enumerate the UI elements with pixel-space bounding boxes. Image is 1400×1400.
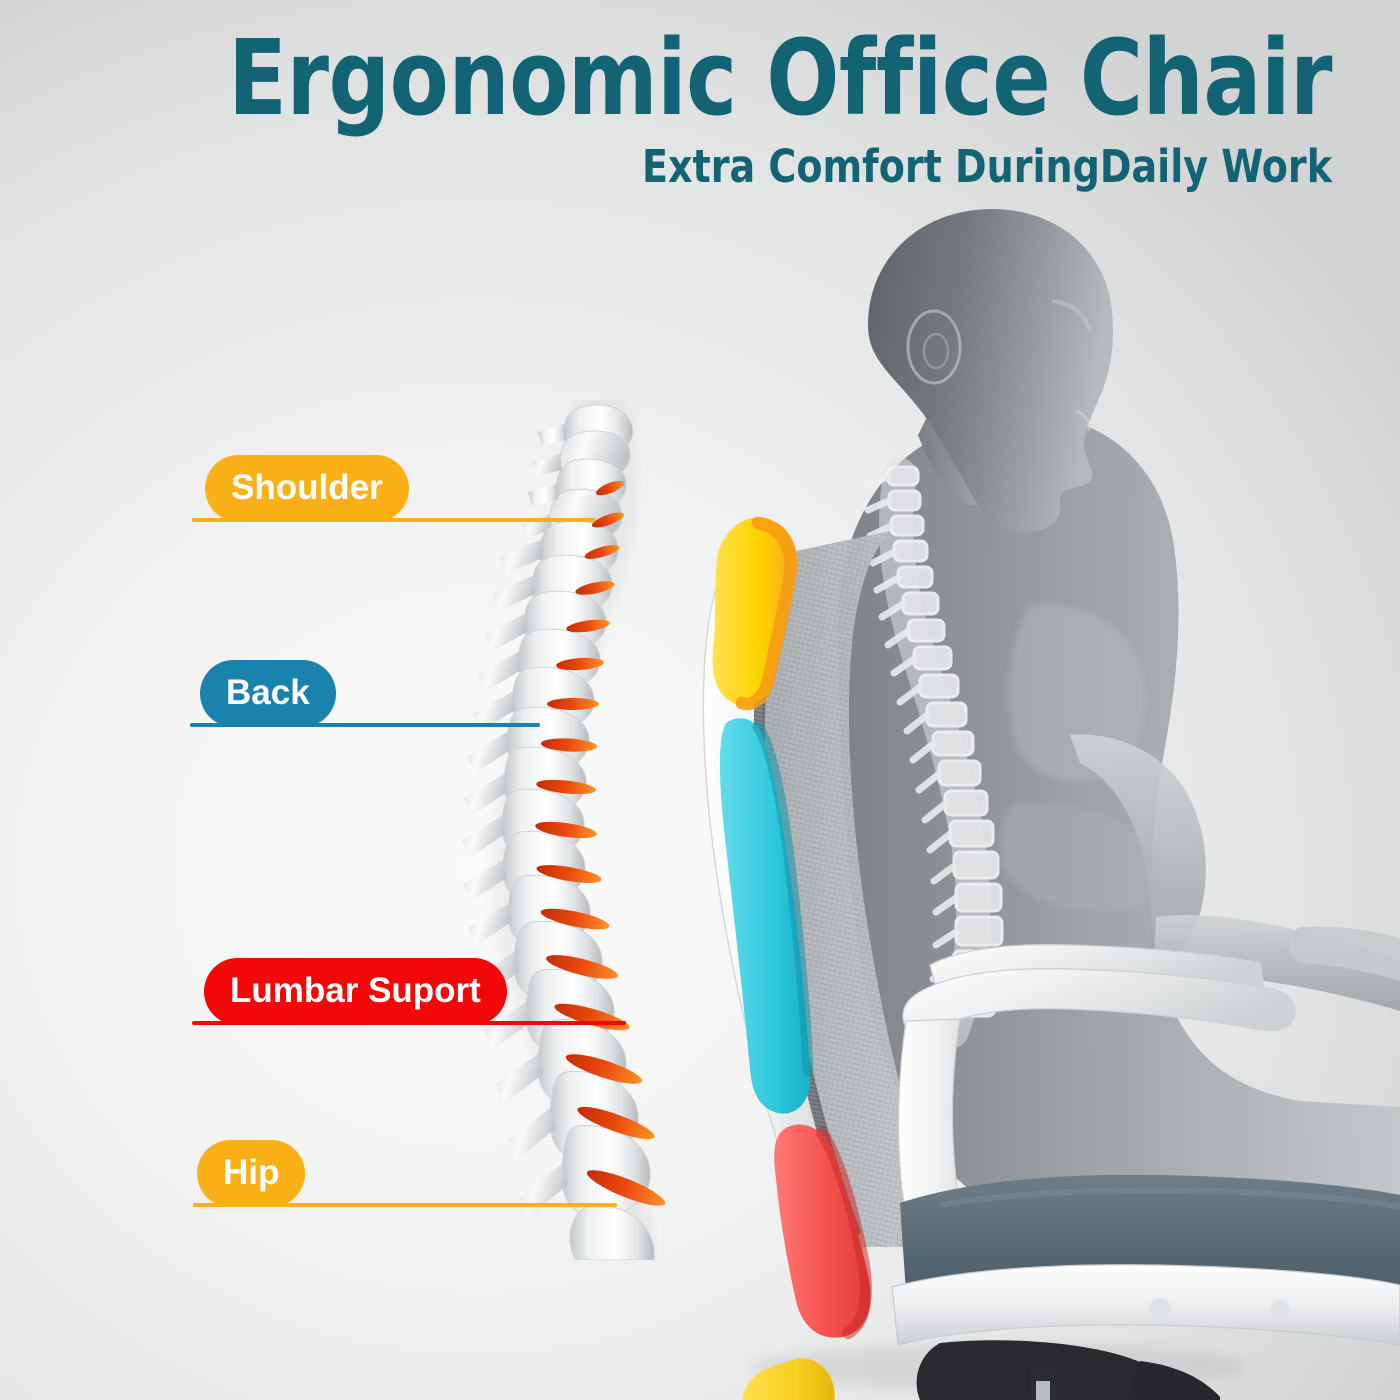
page-subtitle: Extra Comfort DuringDaily Work xyxy=(80,130,1332,189)
seat-pan xyxy=(892,1265,1400,1345)
spine-illustration xyxy=(430,400,720,1260)
callout-leader-line-lumbar-support xyxy=(192,1021,626,1025)
poster-canvas: Ergonomic Office Chair Extra Comfort Dur… xyxy=(0,0,1400,1400)
callout-pill-lumbar-support[interactable]: Lumbar Suport xyxy=(204,958,507,1025)
page-title: Ergonomic Office Chair xyxy=(107,0,1332,130)
callout-pill-shoulder[interactable]: Shoulder xyxy=(205,455,409,522)
spine-svg xyxy=(430,400,720,1260)
chair-person-svg xyxy=(600,175,1400,1400)
callout-pill-hip[interactable]: Hip xyxy=(197,1140,305,1207)
gas-lift-chrome xyxy=(1036,1381,1050,1400)
seat-pan-detail-2 xyxy=(1271,1300,1289,1318)
office-chair-illustration xyxy=(600,175,1400,1400)
callout-leader-line-back xyxy=(190,723,540,727)
seat-pan-detail-1 xyxy=(1149,1298,1171,1320)
header: Ergonomic Office Chair Extra Comfort Dur… xyxy=(0,0,1400,189)
callout-leader-line-hip xyxy=(193,1203,617,1207)
callout-leader-line-shoulder xyxy=(192,518,596,522)
chair-base xyxy=(917,1340,1220,1400)
callout-pill-back[interactable]: Back xyxy=(200,660,336,727)
chair-seat[interactable] xyxy=(892,1175,1400,1345)
